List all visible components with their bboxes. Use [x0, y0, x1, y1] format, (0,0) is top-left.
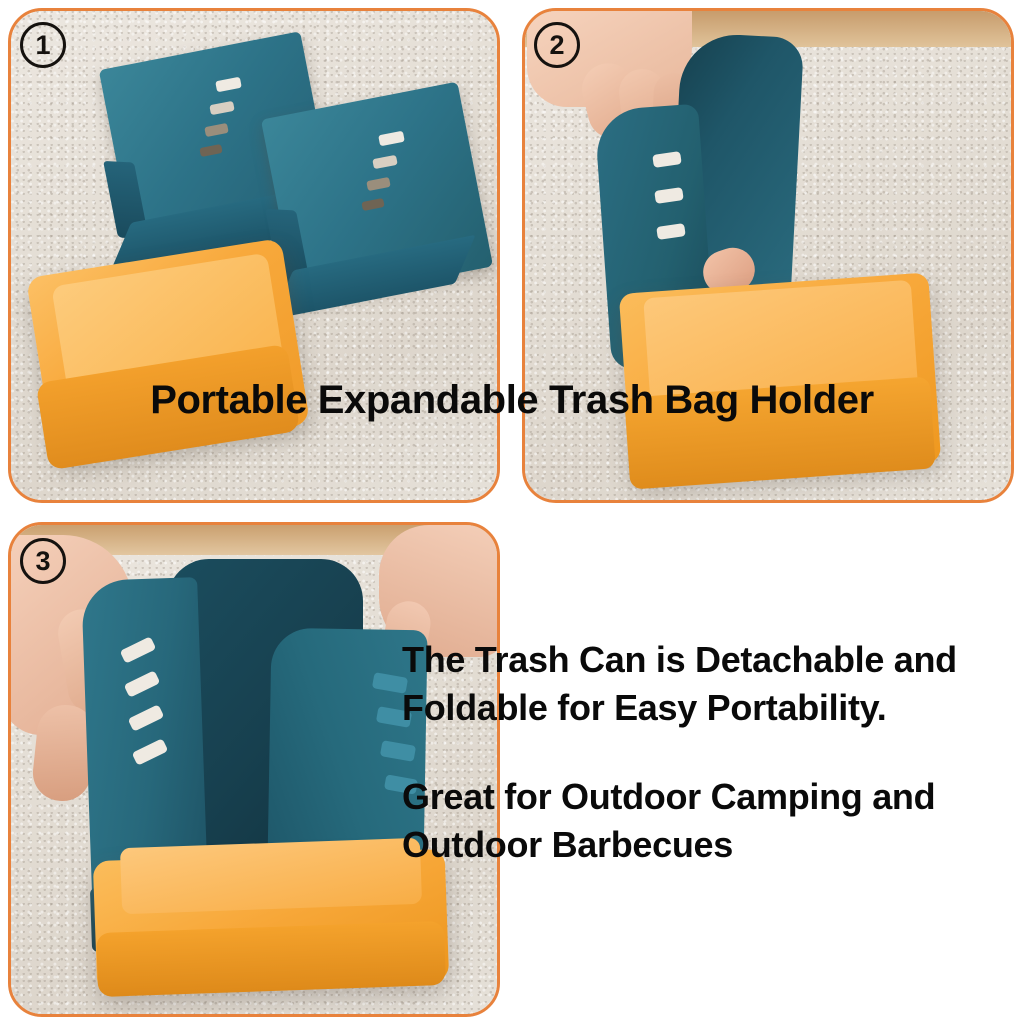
product-photo-panel-2 — [522, 8, 1014, 503]
copy-spacer — [402, 731, 1022, 773]
copy-line-3: Great for Outdoor Camping and — [402, 773, 1022, 821]
step-badge-2: 2 — [534, 22, 580, 68]
headline-title: Portable Expandable Trash Bag Holder — [0, 378, 1024, 423]
product-photo-panel-1 — [8, 8, 500, 503]
copy-line-2: Foldable for Easy Portability. — [402, 684, 1022, 732]
step-badge-1: 1 — [20, 22, 66, 68]
step-badge-3: 3 — [20, 538, 66, 584]
infographic-canvas: 1 2 3 Portable Expandable Trash Bag Hold… — [0, 0, 1024, 1024]
copy-line-4: Outdoor Barbecues — [402, 821, 1022, 869]
feature-copy-block: The Trash Can is Detachable and Foldable… — [402, 636, 1022, 868]
scene-lifting-panel — [525, 11, 1011, 500]
scene-flat-parts — [11, 11, 497, 500]
copy-line-1: The Trash Can is Detachable and — [402, 636, 1022, 684]
